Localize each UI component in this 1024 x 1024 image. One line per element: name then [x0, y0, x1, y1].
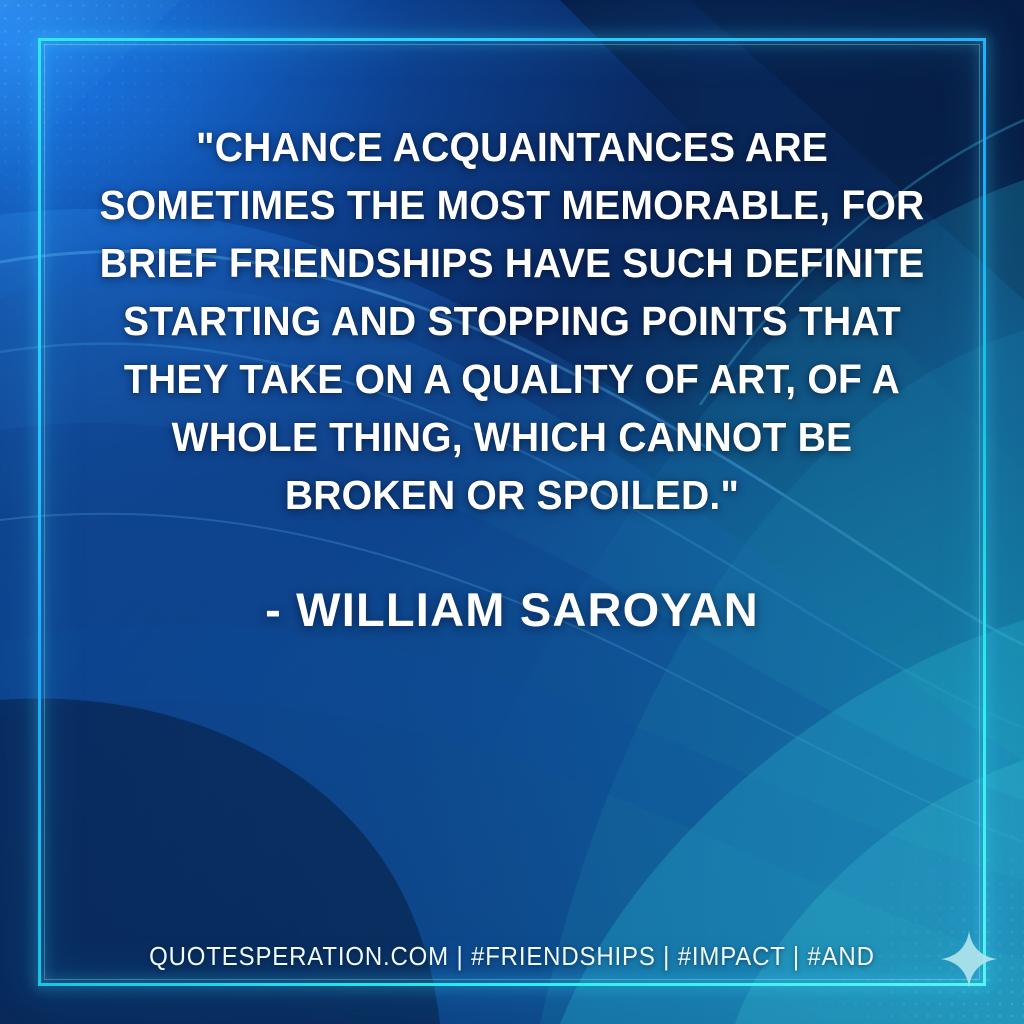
quote-text: "CHANCE ACQUAINTANCES ARE SOMETIMES THE …	[87, 118, 936, 524]
sparkle-icon	[938, 928, 1000, 990]
footer-bar: QUOTESPERATION.COM | #FRIENDSHIPS | #IMP…	[0, 928, 1024, 986]
quote-author: - WILLIAM SAROYAN	[265, 582, 759, 637]
footer-attribution: QUOTESPERATION.COM | #FRIENDSHIPS | #IMP…	[149, 943, 875, 972]
quote-card: "CHANCE ACQUAINTANCES ARE SOMETIMES THE …	[0, 0, 1024, 1024]
quote-content: "CHANCE ACQUAINTANCES ARE SOMETIMES THE …	[0, 0, 1024, 1024]
